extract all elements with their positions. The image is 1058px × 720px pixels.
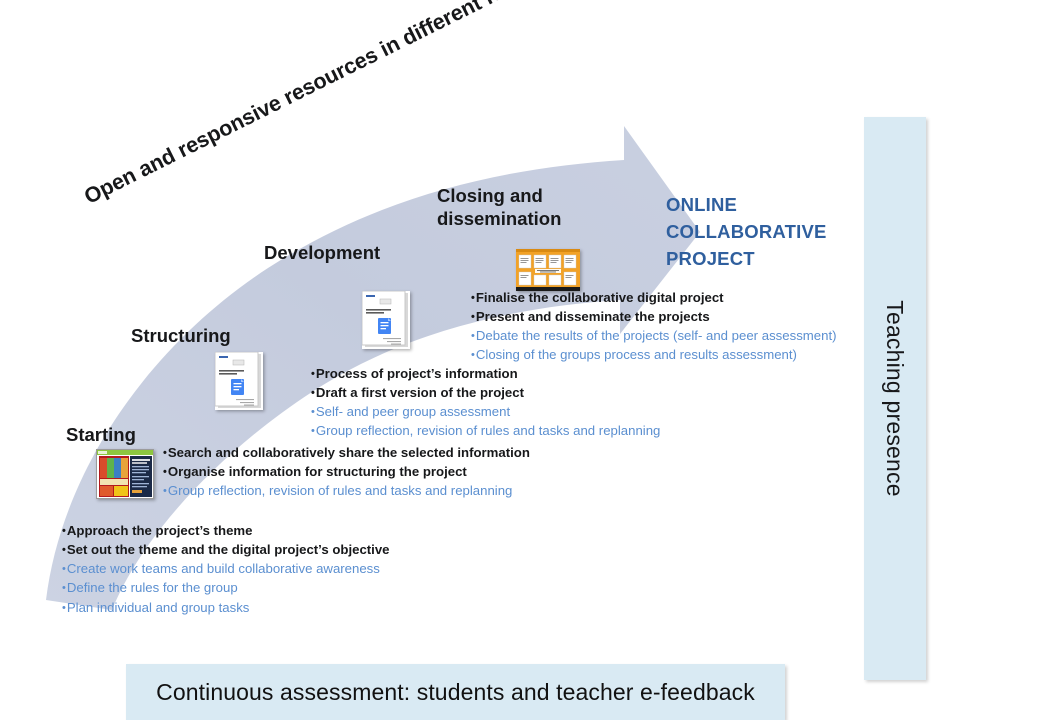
- bullet-list-starting: Approach the project’s theme Set out the…: [62, 521, 390, 617]
- list-item: Group reflection, revision of rules and …: [311, 421, 660, 440]
- list-item: Finalise the collaborative digital proje…: [471, 288, 837, 307]
- list-item: Present and disseminate the projects: [471, 307, 837, 326]
- list-item: Search and collaboratively share the sel…: [163, 443, 530, 462]
- document-page-thumbnail-development: [362, 291, 410, 349]
- bullet-list-development: Process of project’s information Draft a…: [311, 364, 660, 441]
- document-page-thumbnail-structuring: [215, 352, 263, 410]
- magazine-webpage-thumbnail: [96, 449, 154, 499]
- list-item: Organise information for structuring the…: [163, 462, 530, 481]
- list-item: Set out the theme and the digital projec…: [62, 540, 390, 559]
- stage-heading-structuring: Structuring: [131, 325, 231, 348]
- stage-heading-closing: Closing and dissemination: [437, 185, 561, 230]
- list-item: Debate the results of the projects (self…: [471, 326, 837, 345]
- continuous-assessment-banner: Continuous assessment: students and teac…: [126, 664, 785, 720]
- stage-heading-starting: Starting: [66, 424, 136, 447]
- list-item: Closing of the groups process and result…: [471, 345, 837, 364]
- diagram-canvas: Open and responsive resources in differe…: [0, 0, 1058, 720]
- continuous-assessment-label: Continuous assessment: students and teac…: [156, 679, 755, 706]
- stage-heading-development: Development: [264, 242, 380, 265]
- headline-text: Open and responsive resources in differe…: [80, 0, 592, 210]
- list-item: Plan individual and group tasks: [62, 598, 390, 617]
- list-item: Create work teams and build collaborativ…: [62, 559, 390, 578]
- list-item: Self- and peer group assessment: [311, 402, 660, 421]
- bullet-list-structuring: Search and collaboratively share the sel…: [163, 443, 530, 500]
- padlet-board-thumbnail: [516, 249, 580, 291]
- list-item: Process of project’s information: [311, 364, 660, 383]
- goal-label: ONLINE COLLABORATIVE PROJECT: [666, 192, 827, 272]
- teaching-presence-panel: Teaching presence: [864, 117, 926, 680]
- list-item: Group reflection, revision of rules and …: [163, 481, 530, 500]
- teaching-presence-label: Teaching presence: [864, 117, 926, 680]
- list-item: Define the rules for the group: [62, 578, 390, 597]
- list-item: Approach the project’s theme: [62, 521, 390, 540]
- list-item: Draft a first version of the project: [311, 383, 660, 402]
- bullet-list-closing: Finalise the collaborative digital proje…: [471, 288, 837, 365]
